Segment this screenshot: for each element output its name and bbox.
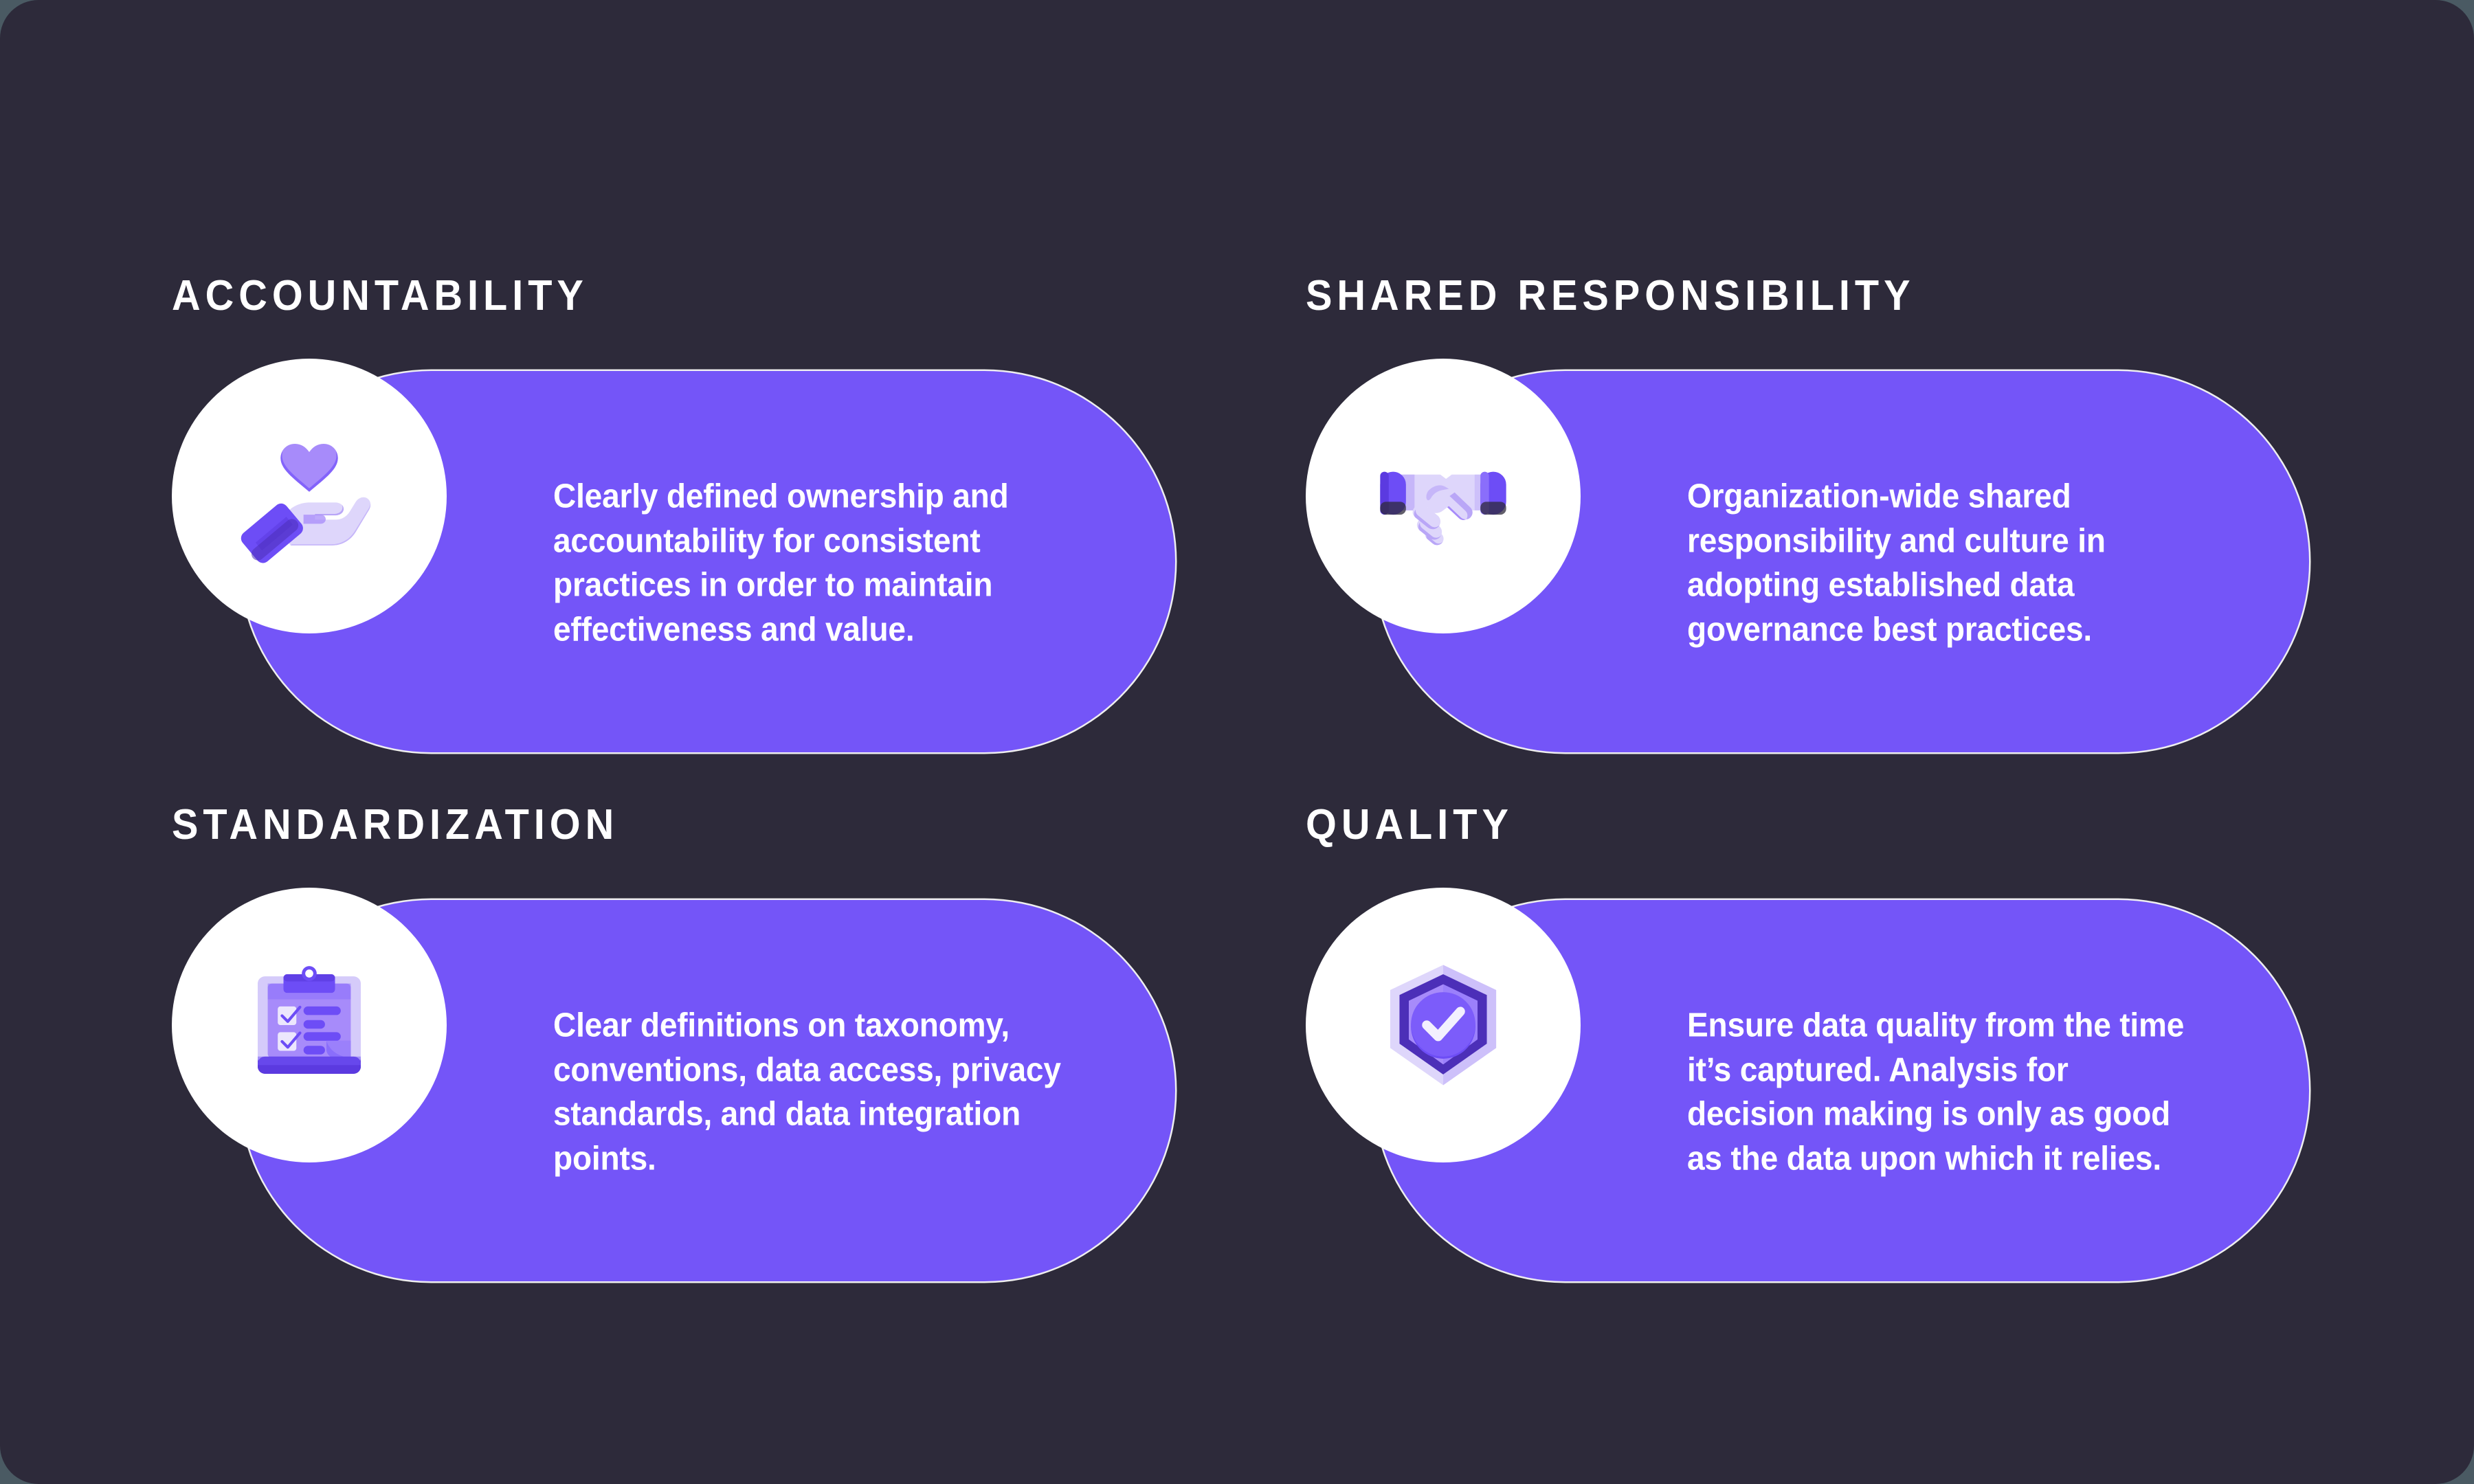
card-quality: QUALITY Ensure data quality from the tim… <box>1306 804 2309 1285</box>
card-description: Ensure data quality from the time it’s c… <box>1687 1004 2198 1182</box>
card-description: Clear definitions on taxonomy, conventio… <box>553 1004 1064 1182</box>
card-title: QUALITY <box>1306 804 2239 846</box>
card-title: STANDARDIZATION <box>172 804 1105 846</box>
card-accountability: ACCOUNTABILITY Clearly defined ownership… <box>172 275 1175 756</box>
icon-badge <box>1306 359 1581 633</box>
card-description: Clearly defined ownership and accountabi… <box>553 475 1064 653</box>
card-body-pill: Clearly defined ownership and accountabi… <box>172 371 1175 756</box>
infographic-panel: ACCOUNTABILITY Clearly defined ownership… <box>0 0 2474 1484</box>
shield-check-icon <box>1357 939 1529 1111</box>
card-body-pill: Ensure data quality from the time it’s c… <box>1306 900 2309 1285</box>
card-description: Organization-wide shared responsibility … <box>1687 475 2198 653</box>
heart-in-hand-icon <box>223 410 395 582</box>
icon-badge <box>172 888 447 1162</box>
card-title: ACCOUNTABILITY <box>172 275 1105 317</box>
principles-grid: ACCOUNTABILITY Clearly defined ownership… <box>172 275 2309 1209</box>
card-title: SHARED RESPONSIBILITY <box>1306 275 2239 317</box>
icon-badge <box>1306 888 1581 1162</box>
card-body-pill: Organization-wide shared responsibility … <box>1306 371 2309 756</box>
card-body-pill: Clear definitions on taxonomy, conventio… <box>172 900 1175 1285</box>
icon-badge <box>172 359 447 633</box>
card-standardization: STANDARDIZATION Clear definitions on tax… <box>172 804 1175 1285</box>
clipboard-checklist-icon <box>223 939 395 1111</box>
handshake-icon <box>1357 410 1529 582</box>
card-shared-responsibility: SHARED RESPONSIBILITY Organization-wide … <box>1306 275 2309 756</box>
